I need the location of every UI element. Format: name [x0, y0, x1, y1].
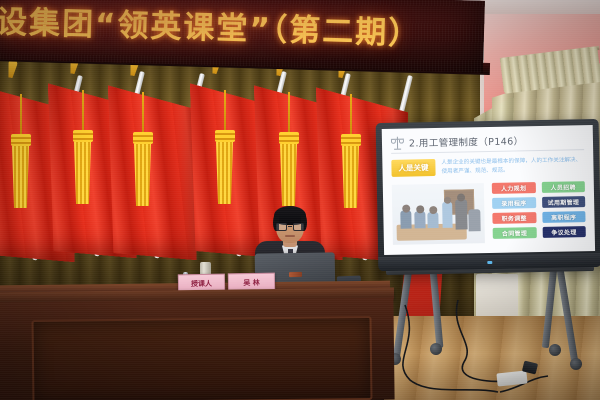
- flag-tassel-head: [215, 130, 235, 142]
- flag-cord: [20, 94, 22, 136]
- slide-badge: 人是关键: [391, 159, 435, 177]
- slide-chip: 合同管理: [493, 228, 537, 240]
- slide-divider: [391, 149, 584, 154]
- lecture-hall-photo: 设集团“领英课堂”（第二期） 2.用工管理制度（P146） 人: [0, 0, 600, 400]
- flag-tassel: [280, 144, 297, 206]
- flag-tassel: [12, 146, 29, 208]
- slide-lead-row: 人是关键 人是企业的关键也是最根本的保障，人的工作关注解决、使用者严谨、规范、规…: [391, 156, 584, 178]
- flag-tassel-head: [11, 134, 31, 146]
- display-screen: 2.用工管理制度（P146） 人是关键 人是企业的关键也是最根本的保障，人的工作…: [382, 125, 595, 255]
- slide-body: 人力规划人员招聘录用程序试用期管理职务调整离职程序合同管理争议处理: [392, 182, 586, 246]
- flag-tassel-head: [73, 130, 93, 142]
- slide-chip: 试用期管理: [542, 197, 586, 209]
- podium-panel: [31, 316, 372, 400]
- flag-cord: [288, 92, 290, 134]
- flag-tassel-head: [341, 134, 361, 146]
- display-power-led: [487, 261, 492, 264]
- laptop-logo: [289, 272, 302, 277]
- flag-tassel-head: [279, 132, 299, 144]
- slide-title: 2.用工管理制度（P146）: [409, 133, 524, 149]
- slide-chip: 录用程序: [492, 198, 536, 210]
- slide-chip: 离职程序: [542, 212, 586, 224]
- flag-cord: [82, 90, 84, 132]
- flag-tassel: [74, 142, 91, 204]
- presenter-mouth: [285, 235, 295, 237]
- slide-chip: 争议处理: [542, 227, 586, 239]
- slide-chip: 职务调整: [492, 213, 536, 225]
- slide-photo: [392, 184, 485, 246]
- banner-title: 设集团“领英课堂”（第二期）: [0, 0, 485, 61]
- slide-chip: 人员招聘: [541, 182, 585, 194]
- flag-cord: [224, 90, 226, 132]
- slide-header: 2.用工管理制度（P146）: [391, 132, 584, 150]
- flag-tassel: [216, 142, 233, 204]
- slide-chip-grid: 人力规划人员招聘录用程序试用期管理职务调整离职程序合同管理争议处理: [492, 182, 586, 244]
- floor-cables: [380, 300, 600, 400]
- balance-scale-icon: [391, 136, 404, 150]
- presenter-glasses: [276, 223, 304, 231]
- flag-tassel: [342, 146, 359, 208]
- slide-chip: 人力规划: [492, 183, 536, 195]
- flag-tassel: [134, 144, 151, 206]
- presentation-slide: 2.用工管理制度（P146） 人是关键 人是企业的关键也是最根本的保障，人的工作…: [382, 125, 595, 255]
- presentation-display[interactable]: 2.用工管理制度（P146） 人是关键 人是企业的关键也是最根本的保障，人的工作…: [376, 119, 600, 271]
- flag-cord: [142, 92, 144, 134]
- flag-cord: [350, 94, 352, 136]
- slide-lead-text: 人是企业的关键也是最根本的保障，人的工作关注解决、使用者严谨、规范、规范。: [441, 156, 584, 177]
- flag-tassel-head: [133, 132, 153, 144]
